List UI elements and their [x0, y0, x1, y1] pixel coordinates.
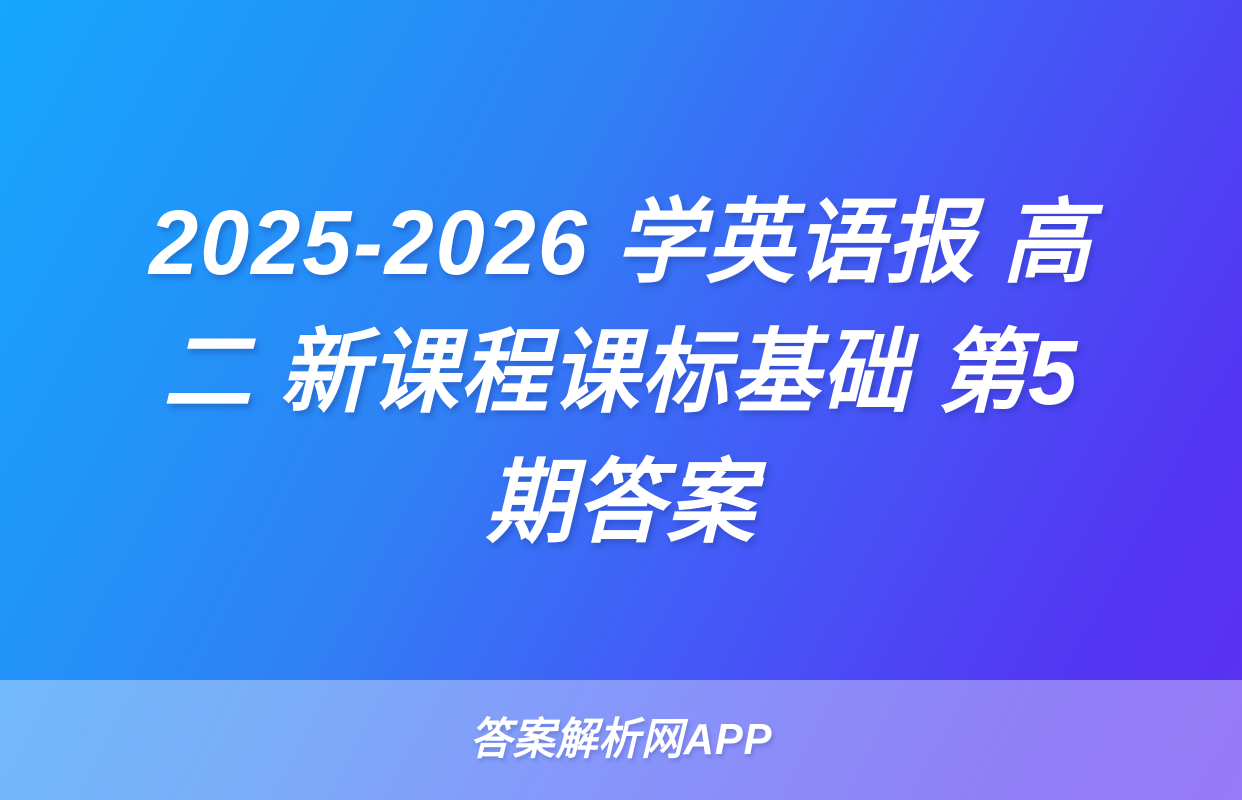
app-brand-label: 答案解析网APP [470, 714, 773, 766]
poster-canvas: 2025-2026 学英语报 高 二 新课程课标基础 第5 期答案 答案解析网A… [0, 0, 1242, 800]
headline-line-1: 2025-2026 学英语报 高 [54, 178, 1189, 308]
headline-line-2: 二 新课程课标基础 第5 [54, 308, 1189, 438]
poster-headline: 2025-2026 学英语报 高 二 新课程课标基础 第5 期答案 [0, 178, 1242, 608]
headline-line-3: 期答案 [54, 438, 1189, 568]
footer-brand-band: 答案解析网APP [0, 680, 1242, 800]
